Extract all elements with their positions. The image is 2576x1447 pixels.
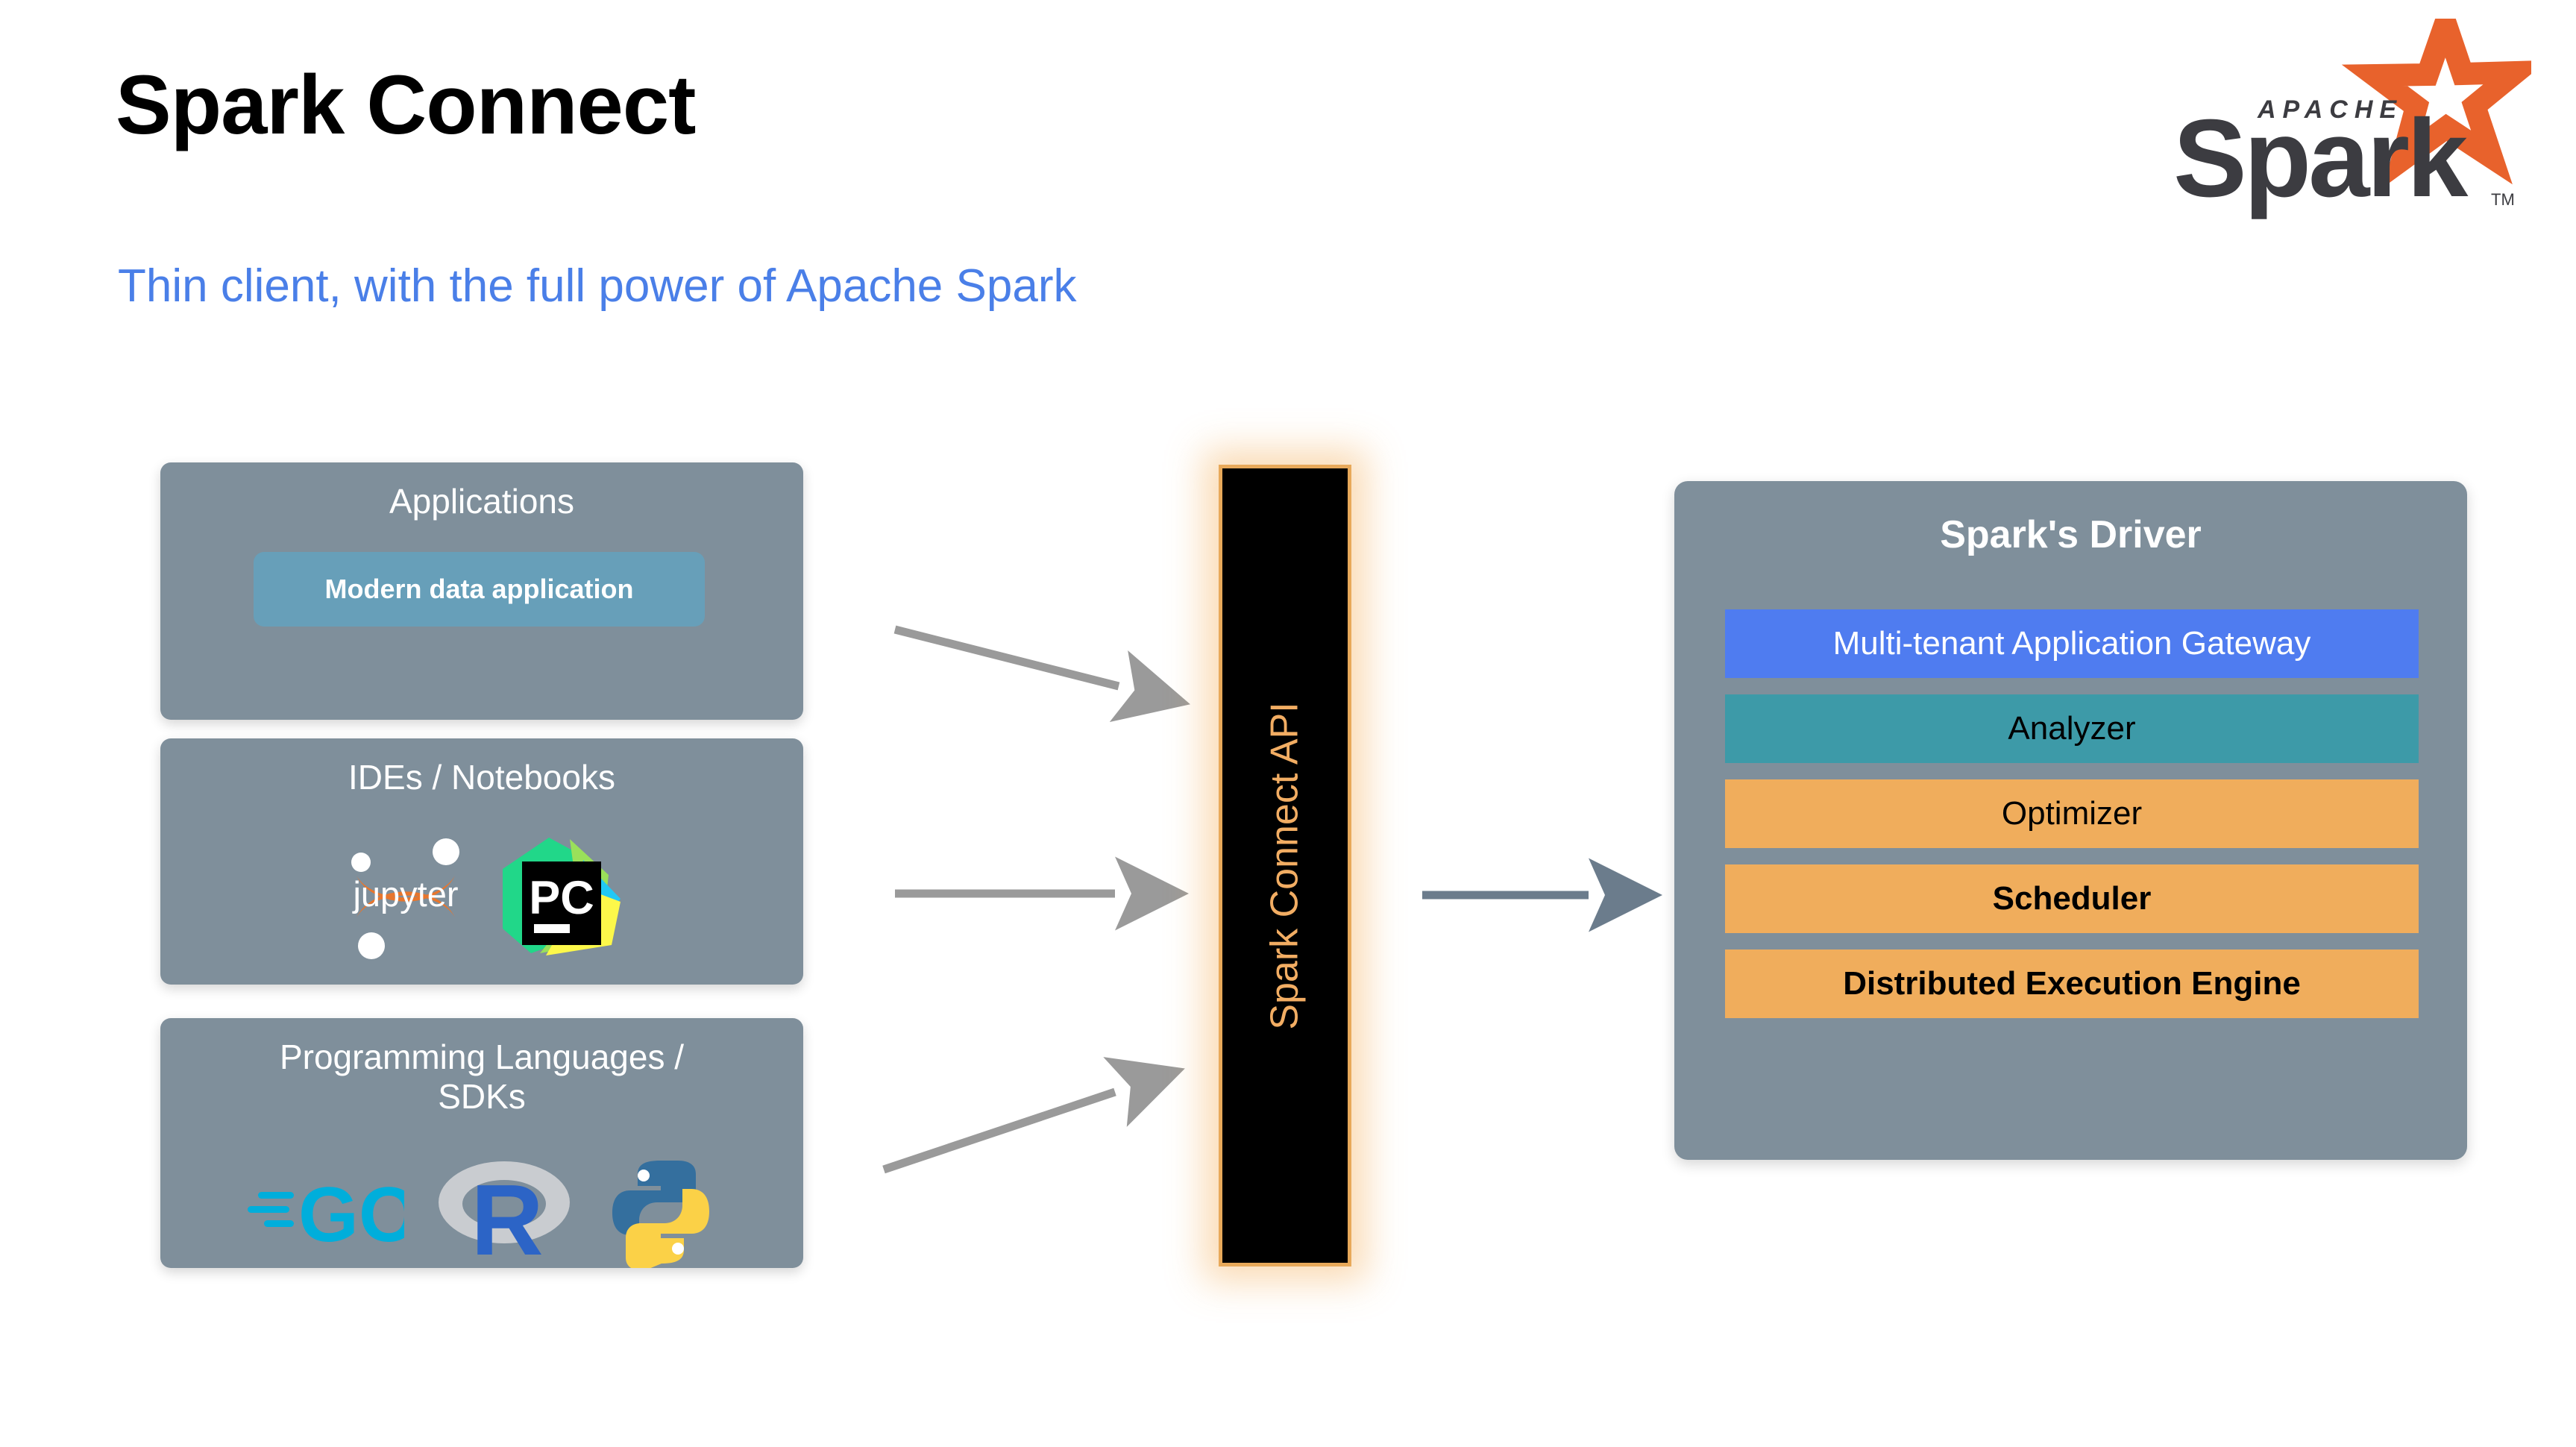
- ide-logo-row: jupyter PC: [160, 828, 803, 966]
- apache-spark-logo: APACHE Spark TM: [2158, 19, 2531, 220]
- arrow-applications-to-api: [891, 619, 1160, 716]
- card-languages-title-line1: Programming Languages /: [160, 1038, 803, 1077]
- language-logo-row: GO R: [160, 1156, 803, 1272]
- spark-driver-title: Spark's Driver: [1674, 481, 2467, 557]
- python-logo: [605, 1156, 717, 1272]
- arrow-languages-to-api: [880, 1044, 1163, 1178]
- spark-connect-api-bar[interactable]: Spark Connect API: [1219, 465, 1351, 1266]
- driver-bar-distributed-execution-engine[interactable]: Distributed Execution Engine: [1725, 950, 2419, 1018]
- pycharm-logo: PC: [495, 830, 626, 964]
- page-subtitle: Thin client, with the full power of Apac…: [118, 261, 1076, 312]
- arrow-api-to-driver: [1421, 861, 1637, 929]
- card-programming-languages[interactable]: Programming Languages / SDKs GO R: [160, 1018, 803, 1268]
- driver-bar-analyzer[interactable]: Analyzer: [1725, 694, 2419, 763]
- r-wordmark: R: [471, 1164, 544, 1268]
- jupyter-logo: jupyter: [339, 828, 473, 966]
- card-spark-driver[interactable]: Spark's Driver Multi-tenant Application …: [1674, 481, 2467, 1160]
- card-languages-title-line2: SDKs: [160, 1077, 803, 1117]
- spark-wordmark: Spark: [2173, 97, 2469, 220]
- card-applications[interactable]: Applications Modern data application: [160, 462, 803, 720]
- go-wordmark: GO: [298, 1172, 404, 1257]
- driver-bar-optimizer[interactable]: Optimizer: [1725, 779, 2419, 848]
- card-languages-title: Programming Languages / SDKs: [160, 1018, 803, 1117]
- spark-connect-api-label: Spark Connect API: [1263, 702, 1307, 1029]
- pycharm-pc-text: PC: [529, 872, 594, 924]
- trademark-mark: TM: [2491, 190, 2515, 209]
- driver-bar-multi-tenant-application-gateway[interactable]: Multi-tenant Application Gateway: [1725, 609, 2419, 678]
- card-ides-title: IDEs / Notebooks: [160, 738, 803, 797]
- card-applications-title: Applications: [160, 462, 803, 521]
- arrow-ides-to-api: [891, 858, 1160, 932]
- driver-bar-scheduler[interactable]: Scheduler: [1725, 864, 2419, 933]
- modern-data-application-pill[interactable]: Modern data application: [254, 552, 705, 627]
- card-ides-notebooks[interactable]: IDEs / Notebooks jupyter PC: [160, 738, 803, 985]
- go-logo: GO: [248, 1167, 404, 1261]
- pycharm-underscore-icon: [534, 924, 570, 933]
- r-logo: R: [436, 1156, 574, 1272]
- jupyter-wordmark: jupyter: [351, 874, 458, 914]
- page-title: Spark Connect: [116, 61, 695, 149]
- driver-component-stack: Multi-tenant Application Gateway Analyze…: [1725, 609, 2419, 1018]
